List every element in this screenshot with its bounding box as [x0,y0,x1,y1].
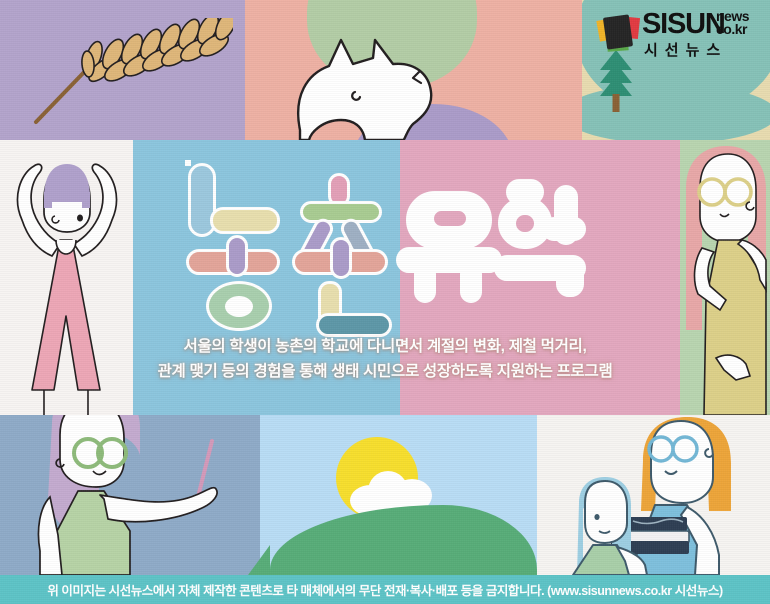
teacher-student-panel [537,415,770,575]
copyright-text: 위 이미지는 시선뉴스에서 자체 제작한 콘텐츠로 타 매체에서의 무단 전재·… [47,580,722,599]
wheat-panel [0,0,245,140]
teacher-and-child-illustration [537,415,770,575]
main-title [185,160,605,340]
title-glyph-yuhak [185,160,191,166]
subtitle-line-1: 서울의 학생이 농촌의 학교에 다니면서 계절의 변화, 제철 먹거리, [0,334,770,359]
hill-shape [270,505,537,575]
wheat-icon [18,18,233,128]
girl-pointing-panel [0,415,270,575]
cow-illustration [245,0,582,140]
weather-panel [270,415,537,575]
image-canvas: SISUN news co.kr 시선뉴스 [0,0,770,604]
girl-pointing-illustration [0,415,270,575]
sisun-logo-mark [598,14,640,52]
cow-panel [245,0,582,140]
subtitle-line-2: 관계 맺기 등의 경험을 통해 생태 시민으로 성장하도록 지원하는 프로그램 [0,359,770,384]
subtitle-block: 서울의 학생이 농촌의 학교에 다니면서 계절의 변화, 제철 먹거리, 관계 … [0,334,770,384]
copyright-footer: 위 이미지는 시선뉴스에서 자체 제작한 콘텐츠로 타 매체에서의 무단 전재·… [0,575,770,604]
logo-korean-text: 시선뉴스 [644,39,727,60]
logo-domain-text: co.kr [716,23,747,36]
sisun-news-logo[interactable]: SISUN news co.kr 시선뉴스 [598,8,764,64]
logo-square-black [603,14,633,49]
logo-wordmark: SISUN [642,10,725,39]
